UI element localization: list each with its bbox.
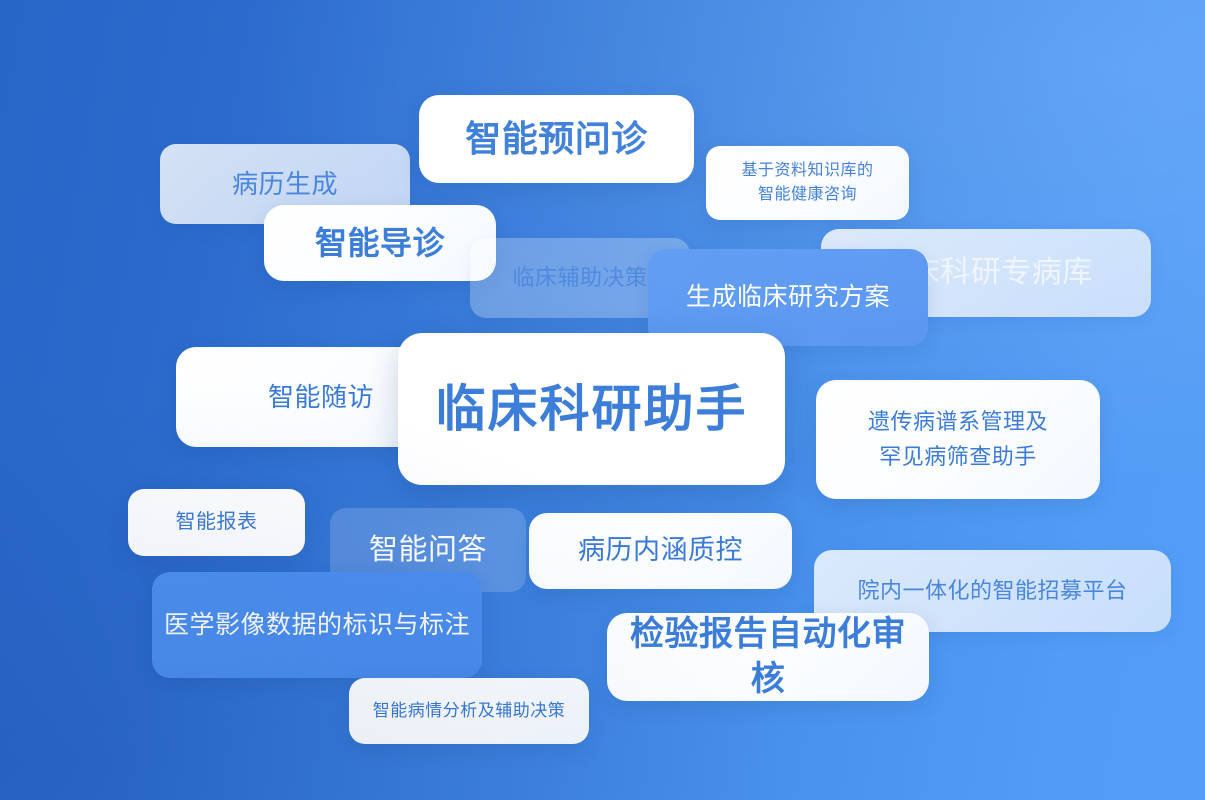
card-label-line-2: 智能健康咨询 (758, 183, 857, 207)
card-smart-triage[interactable]: 智能导诊 (264, 205, 496, 281)
card-lab-report-auto-review[interactable]: 检验报告自动化审核 (607, 613, 929, 701)
card-label: 检验报告自动化审核 (617, 612, 919, 702)
card-label: 智能预问诊 (465, 115, 648, 163)
hero-label: 临床科研助手 (436, 376, 748, 442)
card-label: 智能随访 (268, 380, 374, 414)
card-label: 智能报表 (176, 509, 258, 535)
card-label: 智能问答 (369, 531, 487, 569)
hero-card-clinical-research-assistant[interactable]: 临床科研助手 (398, 333, 785, 485)
card-medical-imaging-annotation[interactable]: 医学影像数据的标识与标注 (152, 572, 482, 678)
card-label: 医学影像数据的标识与标注 (164, 609, 470, 642)
card-label: 院内一体化的智能招募平台 (857, 576, 1127, 605)
card-smart-reports[interactable]: 智能报表 (128, 489, 305, 556)
card-label: 生成临床研究方案 (686, 281, 890, 314)
card-medical-record-quality-control[interactable]: 病历内涵质控 (529, 513, 792, 589)
card-knowledge-base-consultation[interactable]: 基于资料知识库的 智能健康咨询 (706, 146, 909, 220)
card-label-line-2: 罕见病筛查助手 (879, 440, 1037, 474)
card-pre-consultation[interactable]: 智能预问诊 (419, 95, 694, 183)
card-condition-analysis-decision-support[interactable]: 智能病情分析及辅助决策 (349, 678, 589, 744)
poster-canvas: 病历生成 智能预问诊 基于资料知识库的 智能健康咨询 临床科研专病库 智能导诊 … (0, 0, 1205, 800)
card-generate-research-protocol[interactable]: 生成临床研究方案 (648, 249, 928, 346)
card-label: 病历内涵质控 (578, 533, 743, 569)
card-label-line-1: 遗传病谱系管理及 (868, 405, 1048, 439)
card-label-line-1: 基于资料知识库的 (741, 159, 873, 183)
card-label: 智能病情分析及辅助决策 (373, 700, 566, 722)
card-label: 临床辅助决策 (512, 263, 647, 292)
card-label: 智能导诊 (315, 222, 445, 264)
card-genetic-pedigree-rare-disease[interactable]: 遗传病谱系管理及 罕见病筛查助手 (816, 380, 1100, 499)
card-label: 病历生成 (232, 167, 338, 201)
